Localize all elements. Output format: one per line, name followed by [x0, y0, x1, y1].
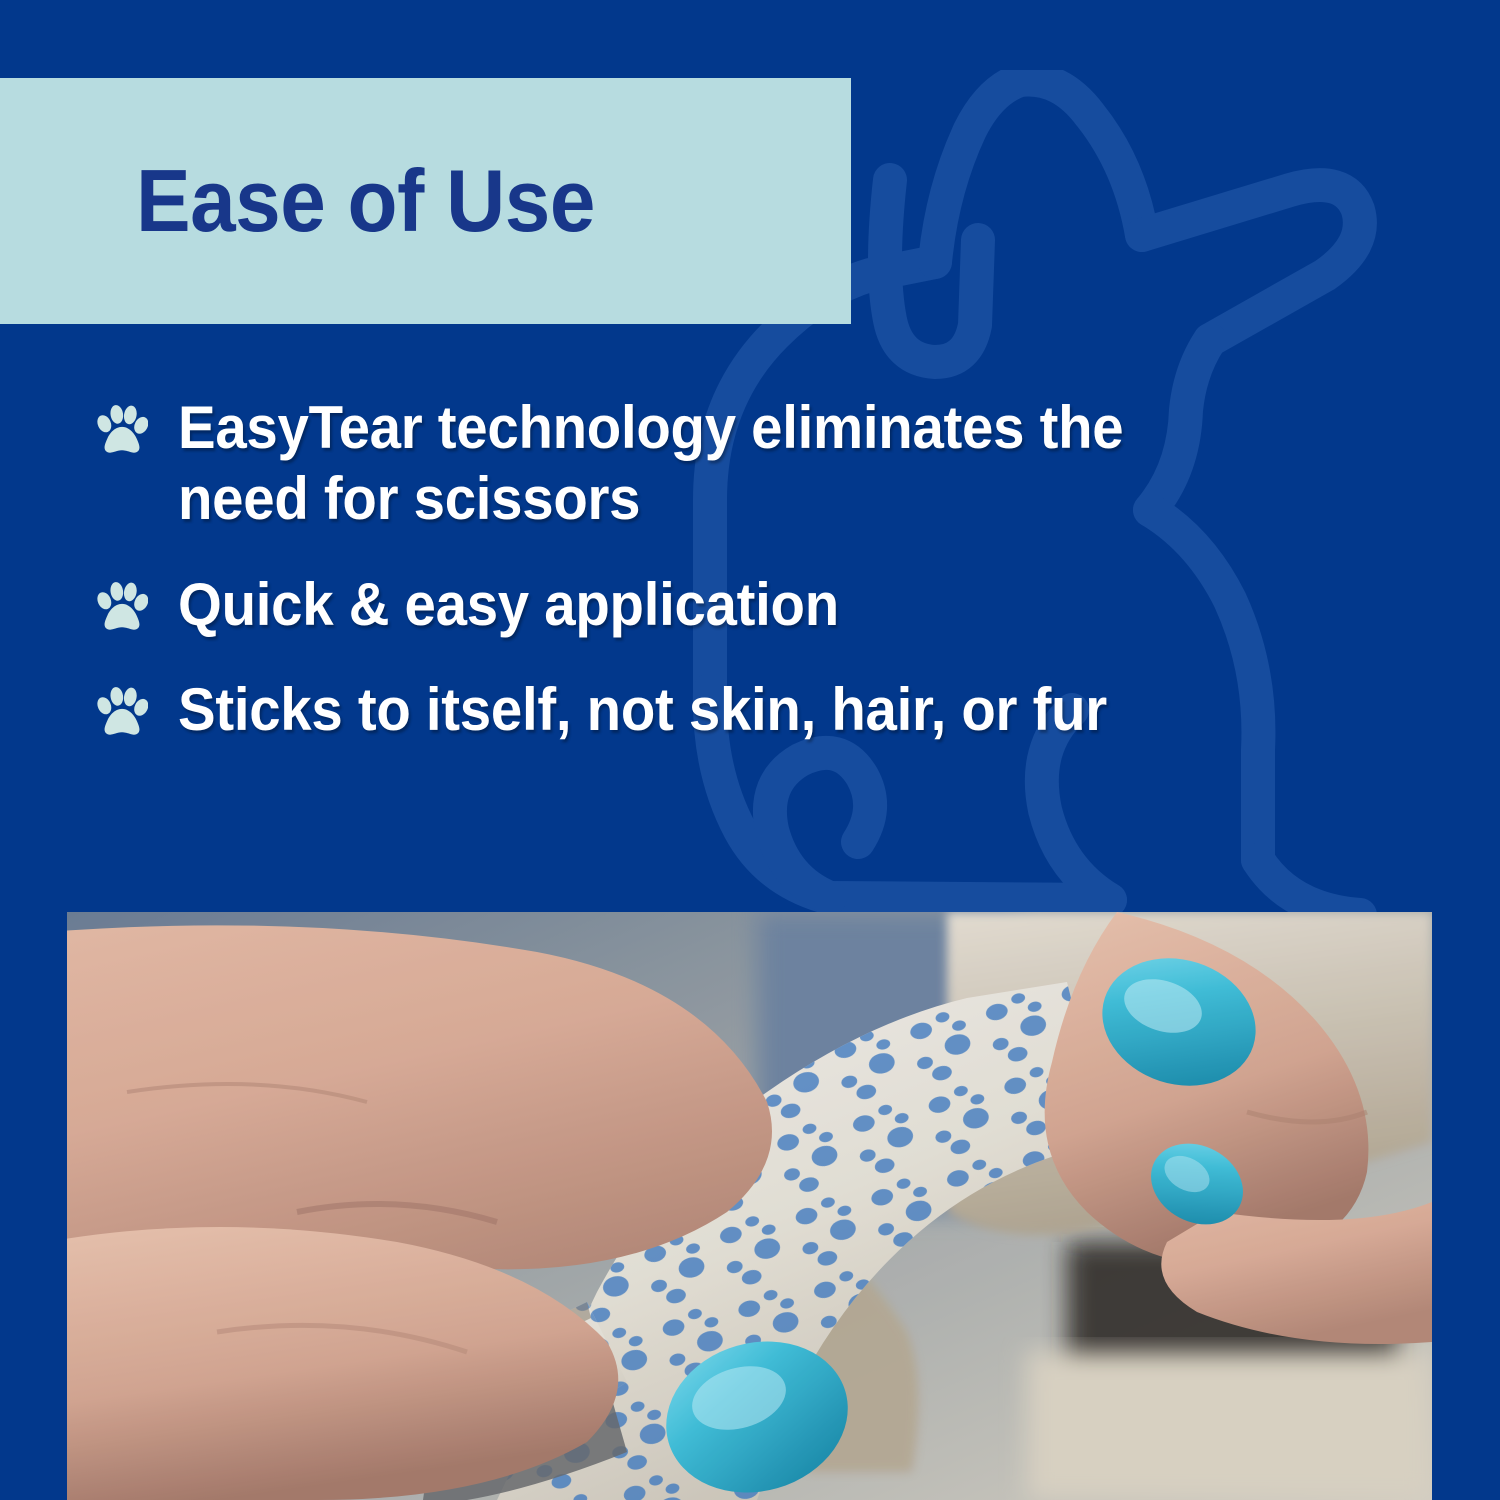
- list-item-label: Quick & easy application: [178, 569, 839, 640]
- paw-print-icon: [96, 404, 148, 456]
- list-item: Quick & easy application: [96, 569, 1436, 640]
- paw-print-icon: [96, 686, 148, 738]
- product-feature-poster: Ease of Use EasyTear technology eliminat…: [0, 0, 1500, 1500]
- paw-print-icon: [96, 581, 148, 633]
- list-item: Sticks to itself, not skin, hair, or fur: [96, 674, 1436, 745]
- feature-bullet-list: EasyTear technology eliminates the need …: [96, 392, 1436, 746]
- title-banner: Ease of Use: [0, 78, 851, 324]
- list-item-label: EasyTear technology eliminates the need …: [178, 392, 1203, 535]
- page-title: Ease of Use: [136, 157, 595, 245]
- product-photo: [67, 912, 1432, 1500]
- list-item-label: Sticks to itself, not skin, hair, or fur: [178, 674, 1107, 745]
- list-item: EasyTear technology eliminates the need …: [96, 392, 1436, 535]
